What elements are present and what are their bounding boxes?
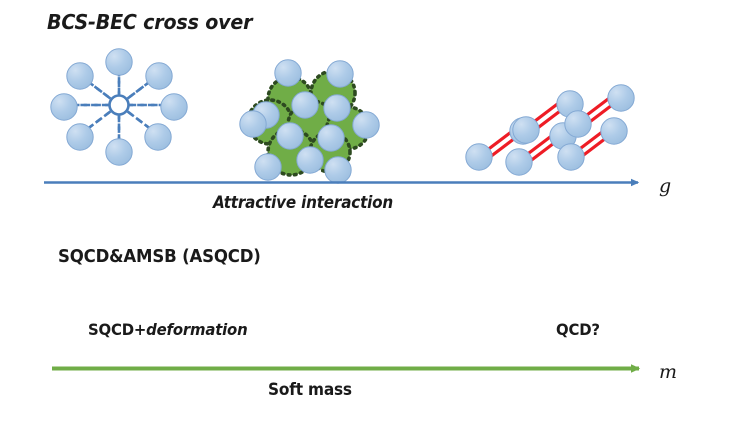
sphere: [608, 85, 634, 111]
sphere: [325, 157, 351, 183]
sphere: [318, 125, 344, 151]
sphere: [297, 147, 323, 173]
sphere: [67, 124, 93, 150]
sphere: [67, 63, 93, 89]
axis-variable-m: m: [659, 361, 677, 383]
sphere: [145, 124, 171, 150]
sphere: [106, 139, 132, 165]
sphere: [466, 144, 492, 170]
slide-canvas: BCS-BEC cross over Attractive interactio…: [0, 0, 747, 421]
sphere: [51, 94, 77, 120]
sphere: [240, 111, 266, 137]
sphere: [506, 149, 532, 175]
sphere: [255, 154, 281, 180]
label-sqcd-deformation-italic: deformation: [146, 320, 247, 339]
sphere: [353, 112, 379, 138]
bcs-hub-ring: [110, 96, 129, 115]
sphere: [161, 94, 187, 120]
section-title-sqcd-amsb: SQCD&AMSB (ASQCD): [58, 246, 261, 267]
sphere: [513, 117, 539, 143]
stage-bound-pair-lattice: [466, 85, 634, 175]
label-sqcd-deformation-upright: SQCD+: [88, 320, 146, 339]
sphere: [146, 63, 172, 89]
axis-label-soft-mass: Soft mass: [268, 380, 352, 399]
sphere: [601, 118, 627, 144]
stage-bcs-cooper-pair-star: [51, 49, 187, 165]
label-sqcd-deformation: SQCD+deformation: [88, 320, 247, 339]
axis-label-attractive-interaction: Attractive interaction: [213, 193, 393, 212]
axis-variable-g: g: [659, 175, 671, 197]
sphere: [558, 144, 584, 170]
bound-pair-spheres: [466, 85, 634, 175]
label-qcd-question: QCD?: [556, 320, 600, 339]
sphere: [324, 95, 350, 121]
page-title-bcs-bec: BCS-BEC cross over: [47, 10, 252, 34]
sphere: [106, 49, 132, 75]
sphere: [292, 92, 318, 118]
sphere: [565, 111, 591, 137]
sphere: [277, 123, 303, 149]
sphere: [327, 61, 353, 87]
stage-bec-molecular-cluster: [240, 60, 379, 183]
sphere: [275, 60, 301, 86]
